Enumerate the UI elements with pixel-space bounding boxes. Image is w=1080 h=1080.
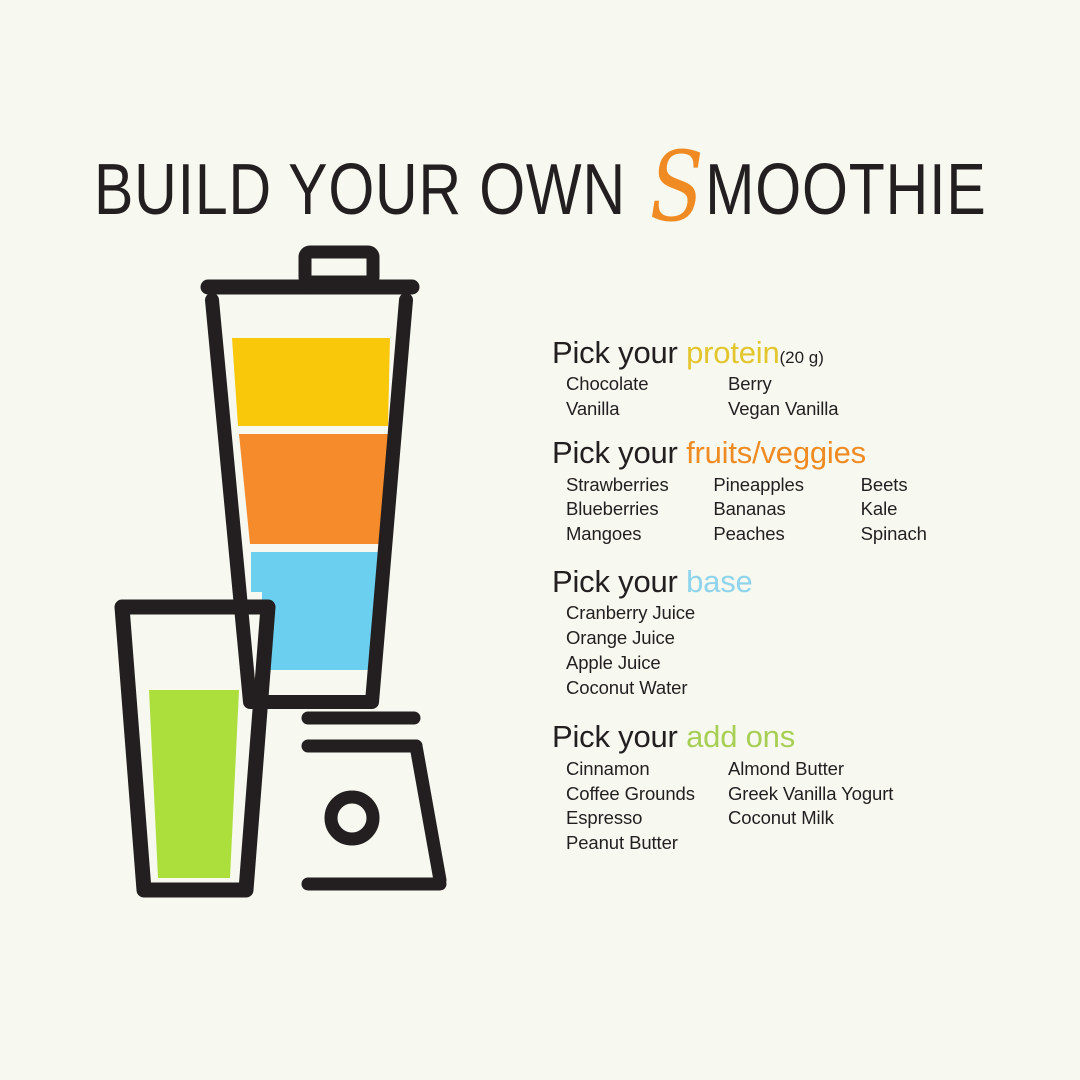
- power-dial-icon: [331, 797, 373, 839]
- section-add-ons: Pick your add ons Cinnamon Coffee Ground…: [548, 720, 1008, 856]
- heading-prefix: Pick your: [552, 435, 686, 470]
- option-column: Cranberry Juice Orange Juice Apple Juice…: [566, 601, 796, 700]
- section-add-ons-options: Cinnamon Coffee Grounds Espresso Peanut …: [548, 757, 1008, 856]
- list-item[interactable]: Greek Vanilla Yogurt: [728, 782, 890, 807]
- blender-contents: [232, 338, 390, 670]
- list-item[interactable]: Kale: [861, 497, 1008, 522]
- option-column: Chocolate Vanilla: [566, 372, 728, 422]
- section-base: Pick your base Cranberry Juice Orange Ju…: [548, 565, 1008, 701]
- section-protein: Pick your protein(20 g) Chocolate Vanill…: [548, 336, 1008, 422]
- list-item[interactable]: Vegan Vanilla: [728, 397, 890, 422]
- title-script-s: S: [643, 131, 705, 243]
- option-column: Cinnamon Coffee Grounds Espresso Peanut …: [566, 757, 728, 856]
- section-protein-options: Chocolate Vanilla Berry Vegan Vanilla: [548, 372, 1008, 422]
- title-part-two: MOOTHIE: [705, 150, 986, 230]
- list-item[interactable]: Spinach: [861, 522, 1008, 547]
- heading-prefix: Pick your: [552, 719, 686, 754]
- section-add-ons-heading: Pick your add ons: [552, 720, 1008, 753]
- list-item[interactable]: Coffee Grounds: [566, 782, 728, 807]
- option-column: Strawberries Blueberries Mangoes: [566, 473, 713, 547]
- list-item[interactable]: Coconut Water: [566, 676, 796, 701]
- blender-base: [308, 718, 440, 884]
- list-item[interactable]: Cinnamon: [566, 757, 728, 782]
- list-item[interactable]: Vanilla: [566, 397, 728, 422]
- section-base-options: Cranberry Juice Orange Juice Apple Juice…: [548, 601, 1008, 700]
- heading-accent-fruits: fruits/veggies: [686, 435, 866, 470]
- section-fruits-heading: Pick your fruits/veggies: [552, 436, 1008, 469]
- page-title-text: BUILD YOUR OWN SMOOTHIE: [94, 154, 987, 226]
- list-item[interactable]: Peanut Butter: [566, 831, 728, 856]
- glass-fill: [149, 690, 239, 878]
- list-item[interactable]: Chocolate: [566, 372, 728, 397]
- section-fruits-options: Strawberries Blueberries Mangoes Pineapp…: [548, 473, 1008, 547]
- section-fruits-veggies: Pick your fruits/veggies Strawberries Bl…: [548, 436, 1008, 547]
- heading-accent-protein: protein: [686, 335, 779, 370]
- list-item[interactable]: Peaches: [713, 522, 860, 547]
- base-body: [416, 746, 440, 880]
- list-item[interactable]: Bananas: [713, 497, 860, 522]
- blender-illustration: [100, 240, 530, 910]
- list-item[interactable]: Apple Juice: [566, 651, 796, 676]
- option-column: Beets Kale Spinach: [861, 473, 1008, 547]
- blender-lid: [208, 252, 412, 287]
- list-item[interactable]: Beets: [861, 473, 1008, 498]
- heading-prefix: Pick your: [552, 564, 686, 599]
- layer-fruits: [239, 434, 388, 544]
- option-column: Berry Vegan Vanilla: [728, 372, 890, 422]
- list-item[interactable]: Espresso: [566, 806, 728, 831]
- section-protein-heading: Pick your protein(20 g): [552, 336, 1008, 369]
- heading-note-protein: (20 g): [780, 348, 824, 367]
- list-item[interactable]: Pineapples: [713, 473, 860, 498]
- list-item[interactable]: Berry: [728, 372, 890, 397]
- heading-accent-add-ons: add ons: [686, 719, 795, 754]
- heading-prefix: Pick your: [552, 335, 686, 370]
- option-column: Almond Butter Greek Vanilla Yogurt Cocon…: [728, 757, 890, 856]
- lid-handle: [305, 252, 373, 282]
- section-base-heading: Pick your base: [552, 565, 1008, 598]
- list-item[interactable]: Cranberry Juice: [566, 601, 796, 626]
- ingredient-sections: Pick your protein(20 g) Chocolate Vanill…: [548, 336, 1008, 866]
- option-column: Pineapples Bananas Peaches: [713, 473, 860, 547]
- page-title: BUILD YOUR OWN SMOOTHIE: [0, 140, 1080, 240]
- list-item[interactable]: Blueberries: [566, 497, 713, 522]
- list-item[interactable]: Almond Butter: [728, 757, 890, 782]
- list-item[interactable]: Coconut Milk: [728, 806, 890, 831]
- title-part-one: BUILD YOUR OWN: [94, 150, 643, 230]
- layer-protein: [232, 338, 390, 426]
- list-item[interactable]: Mangoes: [566, 522, 713, 547]
- list-item[interactable]: Orange Juice: [566, 626, 796, 651]
- heading-accent-base: base: [686, 564, 752, 599]
- list-item[interactable]: Strawberries: [566, 473, 713, 498]
